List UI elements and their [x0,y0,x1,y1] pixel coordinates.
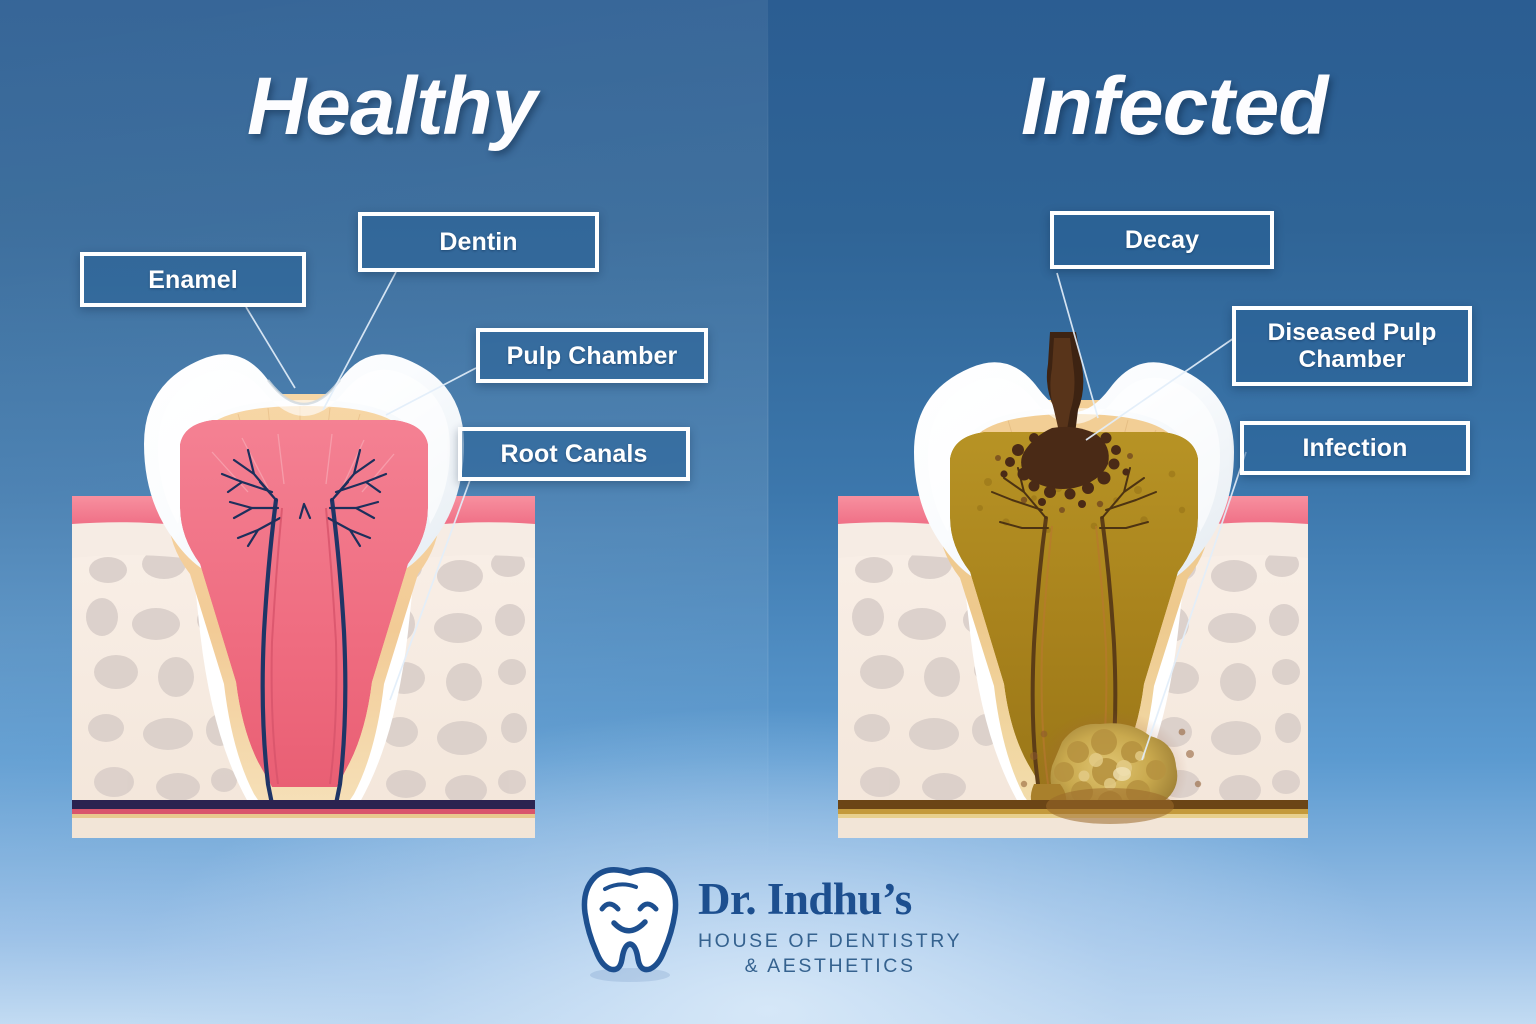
infographic-canvas: Healthy Infected Enamel Dentin Pulp Cham… [0,0,1536,1024]
panel-divider [767,0,769,880]
logo-tagline-line2: & AESTHETICS [698,954,962,979]
tooth-mascot-icon [578,865,682,988]
label-decay[interactable]: Decay [1050,211,1274,269]
label-diseased-pulp-line1: Diseased Pulp [1268,319,1437,346]
logo-clinic-name: Dr. Indhu’s [698,877,962,922]
logo-tagline-line1: HOUSE OF DENTISTRY [698,929,962,954]
clinic-logo[interactable]: Dr. Indhu’s HOUSE OF DENTISTRY & AESTHET… [578,862,968,990]
healthy-panel-title: Healthy [247,66,536,148]
label-enamel[interactable]: Enamel [80,252,306,307]
label-dentin[interactable]: Dentin [358,212,599,272]
label-root-canals[interactable]: Root Canals [458,427,690,481]
label-diseased-pulp-line2: Chamber [1299,346,1406,373]
label-pulp-chamber[interactable]: Pulp Chamber [476,328,708,383]
infected-tooth-illustration [838,332,1308,839]
infected-panel-title: Infected [1021,66,1327,148]
healthy-tooth-illustration [72,332,535,839]
mandibular-canal [72,800,535,838]
label-diseased-pulp-chamber[interactable]: Diseased Pulp Chamber [1232,306,1472,386]
label-infection[interactable]: Infection [1240,421,1470,475]
